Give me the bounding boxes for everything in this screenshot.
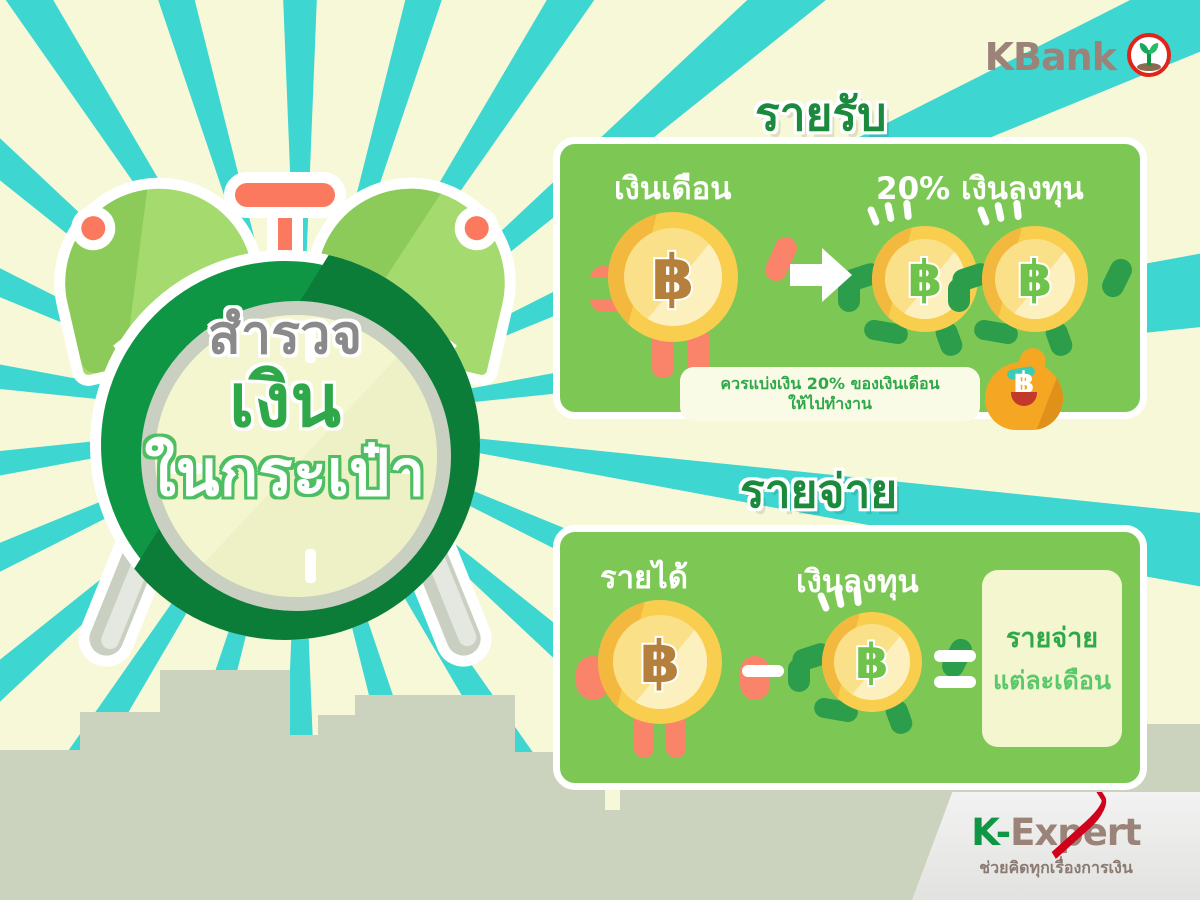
seedling-in-circle-icon bbox=[1126, 32, 1172, 82]
clock-top-button bbox=[224, 172, 346, 218]
motion-lines-1 bbox=[868, 200, 928, 224]
hero-title-line-2: เงิน bbox=[101, 364, 469, 439]
kexpert-rest: Expert bbox=[1010, 811, 1141, 854]
investment-coin-2-baht-symbol: ฿ bbox=[982, 226, 1088, 332]
salary-coin-character: ฿ bbox=[608, 212, 768, 372]
hero-title-line-1: สำรวจ bbox=[101, 307, 469, 362]
alarm-clock-magnifier-icon: สำรวจ เงิน ในกระเป๋า bbox=[40, 150, 530, 670]
income-caption-box: ควรแบ่งเงิน 20% ของเงินเดือน ให้ไปทำงาน bbox=[680, 367, 980, 421]
kexpert-logo: K-Expert ช่วยคิดทุกเรื่องการเงิน bbox=[912, 792, 1200, 900]
kexpert-tagline: ช่วยคิดทุกเรื่องการเงิน bbox=[979, 856, 1133, 881]
income-caption-line-2: ให้ไปทำงาน bbox=[720, 394, 939, 414]
infographic-canvas: KBank bbox=[0, 0, 1200, 900]
kbank-logo: KBank bbox=[985, 32, 1172, 82]
kexpert-k: K- bbox=[971, 811, 1010, 854]
motion-lines-3 bbox=[818, 586, 878, 610]
kexpert-wordmark: K-Expert bbox=[971, 811, 1140, 854]
clock-tick-6 bbox=[305, 549, 316, 583]
expense-income-label: รายได้ bbox=[600, 552, 688, 602]
minus-operator bbox=[742, 665, 784, 677]
clock-ring: สำรวจ เงิน ในกระเป๋า bbox=[90, 250, 480, 640]
hero-title: สำรวจ เงิน ในกระเป๋า bbox=[101, 307, 469, 507]
expense-section-heading: รายจ่าย bbox=[740, 455, 897, 528]
motion-lines-2 bbox=[978, 200, 1038, 224]
salary-coin-baht-symbol: ฿ bbox=[608, 212, 738, 342]
equals-operator bbox=[934, 648, 976, 692]
expense-result-box: รายจ่าย แต่ละเดือน bbox=[982, 570, 1122, 747]
investment-coin-character-2: ฿ bbox=[982, 226, 1102, 346]
hero-title-line-3: ในกระเป๋า bbox=[101, 442, 469, 507]
income-caption-line-1: ควรแบ่งเงิน 20% ของเงินเดือน bbox=[720, 374, 939, 394]
result-line-1: รายจ่าย bbox=[1006, 616, 1098, 659]
kbank-wordmark: KBank bbox=[985, 35, 1116, 79]
salary-label: เงินเดือน bbox=[614, 163, 731, 213]
expense-investment-coin-baht-symbol: ฿ bbox=[822, 612, 922, 712]
result-line-2: แต่ละเดือน bbox=[993, 661, 1111, 701]
expense-income-coin-character: ฿ bbox=[598, 600, 748, 750]
expense-investment-coin-character: ฿ bbox=[822, 612, 942, 732]
expense-income-coin-baht-symbol: ฿ bbox=[598, 600, 722, 724]
money-bag-icon: ฿ bbox=[985, 348, 1063, 430]
arrow-right-icon bbox=[790, 248, 852, 306]
